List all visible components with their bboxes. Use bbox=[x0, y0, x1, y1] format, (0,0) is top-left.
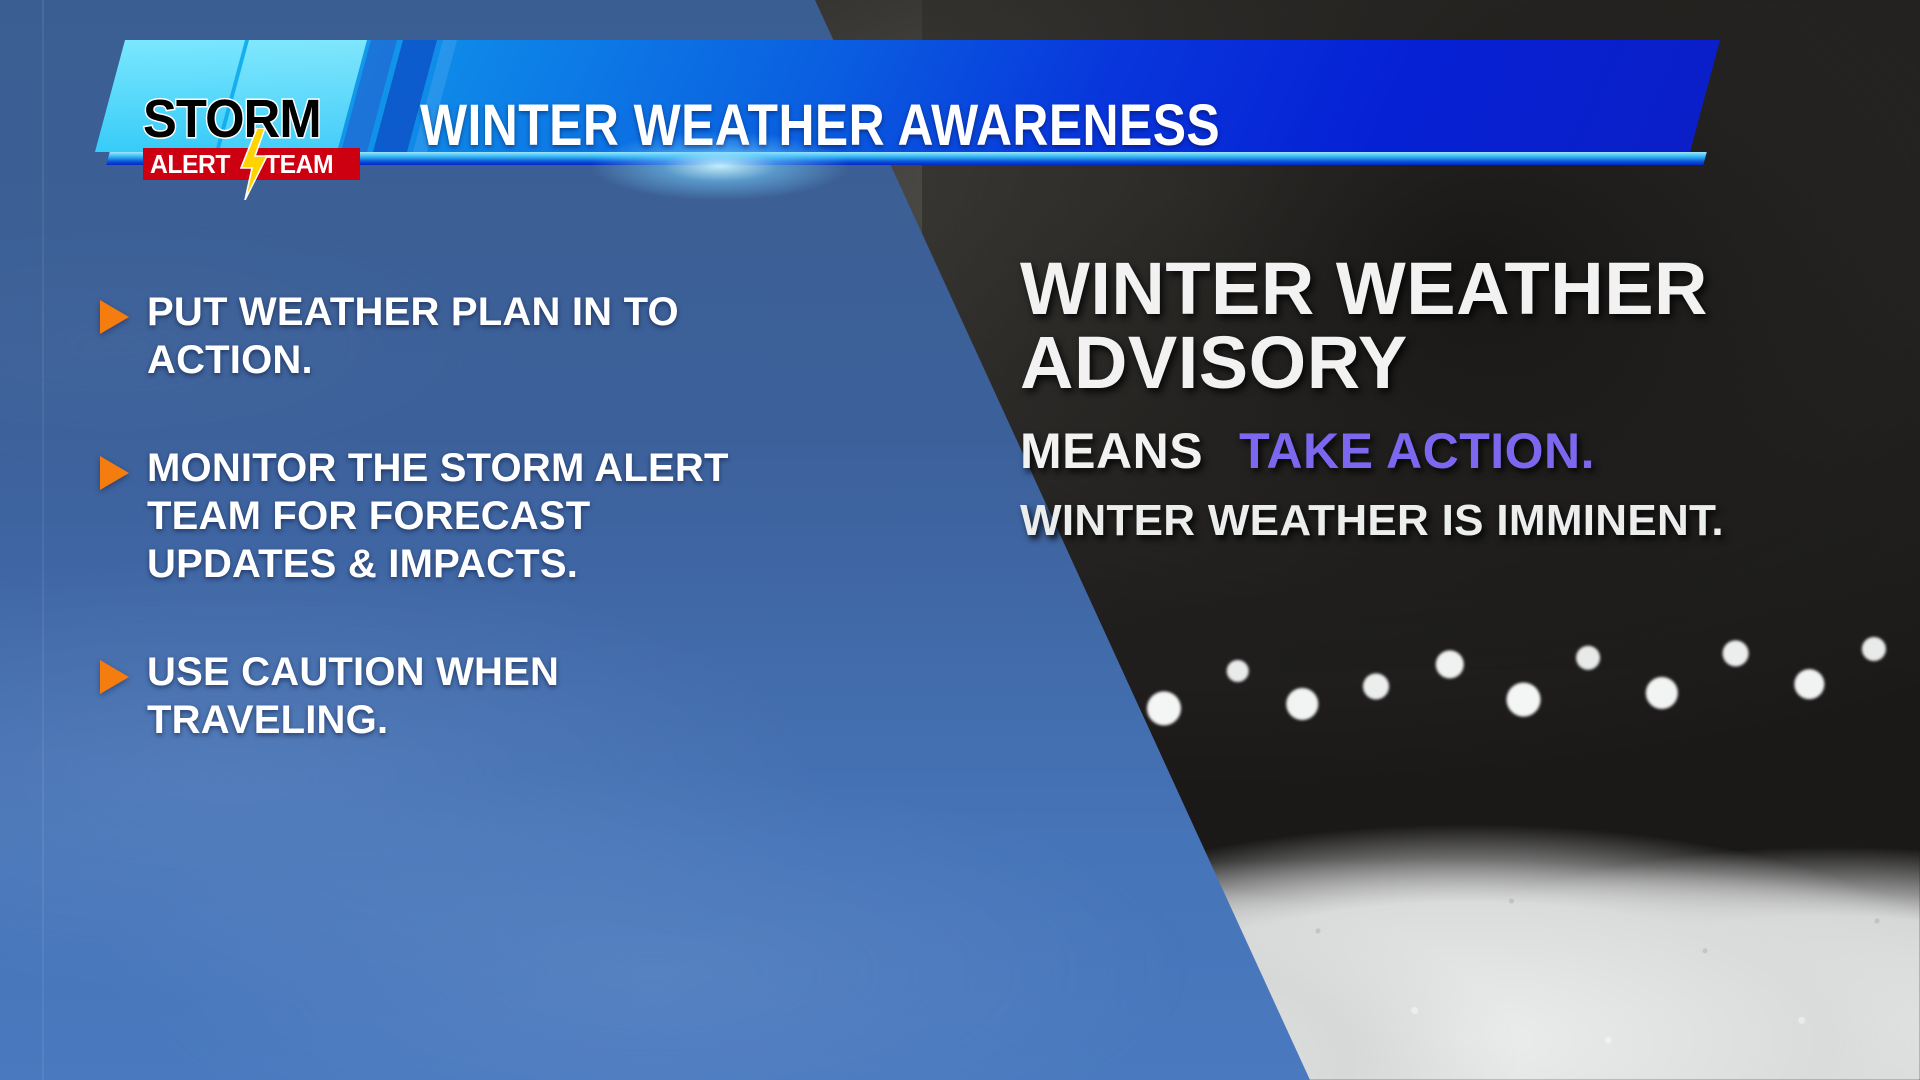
logo-alert-text: ALERT bbox=[150, 150, 230, 178]
logo-team-text: TEAM bbox=[265, 150, 333, 178]
list-item-label: MONITOR THE STORM ALERT TEAM FOR FORECAS… bbox=[147, 444, 780, 588]
advisory-subtext: WINTER WEATHER IS IMMINENT. bbox=[1020, 496, 1880, 546]
list-item-label: PUT WEATHER PLAN IN TO ACTION. bbox=[147, 288, 780, 384]
list-item: PUT WEATHER PLAN IN TO ACTION. bbox=[100, 288, 780, 384]
triangle-right-icon bbox=[100, 456, 129, 490]
header-banner: WINTER WEATHER AWARENESS STORM ALERT TEA… bbox=[0, 40, 1920, 165]
advisory-block: WINTER WEATHER ADVISORY MEANSTAKE ACTION… bbox=[1020, 252, 1880, 546]
advisory-action-text: TAKE ACTION. bbox=[1239, 423, 1595, 479]
advisory-means-row: MEANSTAKE ACTION. bbox=[1020, 422, 1880, 480]
lightning-bolt-icon bbox=[235, 128, 271, 200]
advisory-means-label: MEANS bbox=[1020, 423, 1203, 479]
weather-graphic: WINTER WEATHER AWARENESS STORM ALERT TEA… bbox=[0, 0, 1920, 1080]
list-item: MONITOR THE STORM ALERT TEAM FOR FORECAS… bbox=[100, 444, 780, 588]
triangle-right-icon bbox=[100, 300, 129, 334]
advisory-headline: WINTER WEATHER ADVISORY bbox=[1020, 252, 1880, 400]
logo-storm-text: STORM bbox=[143, 92, 321, 146]
list-item-label: USE CAUTION WHEN TRAVELING. bbox=[147, 648, 780, 744]
storm-alert-team-logo: STORM ALERT TEAM bbox=[143, 92, 368, 184]
page-title: WINTER WEATHER AWARENESS bbox=[420, 92, 1452, 159]
safety-tips-list: PUT WEATHER PLAN IN TO ACTION. MONITOR T… bbox=[100, 288, 780, 804]
list-item: USE CAUTION WHEN TRAVELING. bbox=[100, 648, 780, 744]
triangle-right-icon bbox=[100, 660, 129, 694]
